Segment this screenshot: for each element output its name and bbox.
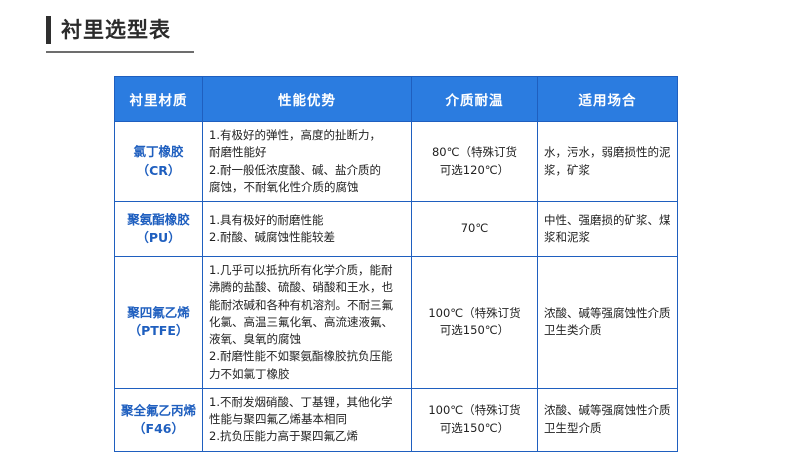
temperature-line: 可选120℃） — [418, 162, 531, 179]
table-row: 氯丁橡胶 （CR） 1.有极好的弹性，高度的扯断力， 耐磨性能好 2.耐一般低浓… — [115, 122, 678, 202]
material-name: 聚四氟乙烯 — [121, 304, 196, 322]
temperature-line: 100℃（特殊订货 — [418, 305, 531, 322]
cell-scene: 浓酸、碱等强腐蚀性介质 卫生型介质 — [538, 388, 678, 451]
cell-temperature: 100℃（特殊订货 可选150℃） — [412, 257, 538, 389]
table-row: 聚四氟乙烯 （PTFE） 1.几乎可以抵抗所有化学介质，能耐 沸腾的盐酸、硫酸、… — [115, 257, 678, 389]
performance-line: 能耐浓碱和各种有机溶剂。不耐三氟 — [209, 297, 405, 314]
material-name: 聚氨酯橡胶 — [121, 211, 196, 229]
performance-line: 力不如氯丁橡胶 — [209, 366, 405, 383]
column-header-performance: 性能优势 — [203, 77, 412, 122]
scene-line: 浓酸、碱等强腐蚀性介质 — [544, 402, 671, 419]
scene-line: 卫生型介质 — [544, 420, 671, 437]
page-root: 衬里选型表 衬里材质 性能优势 介质耐温 适用场合 氯丁橡胶 （CR） — [0, 0, 790, 423]
lining-selection-table: 衬里材质 性能优势 介质耐温 适用场合 氯丁橡胶 （CR） 1.有极好的弹性，高… — [114, 76, 678, 452]
scene-line: 卫生类介质 — [544, 322, 671, 339]
cell-temperature: 100℃（特殊订货 可选150℃） — [412, 388, 538, 451]
scene-line: 浆和泥浆 — [544, 229, 671, 246]
cell-performance: 1.几乎可以抵抗所有化学介质，能耐 沸腾的盐酸、硫酸、硝酸和王水，也 能耐浓碱和… — [203, 257, 412, 389]
title-accent-bar — [46, 16, 51, 44]
material-code: （F46） — [121, 420, 196, 438]
column-header-material: 衬里材质 — [115, 77, 203, 122]
cell-material: 氯丁橡胶 （CR） — [115, 122, 203, 202]
cell-material: 聚全氟乙丙烯 （F46） — [115, 388, 203, 451]
cell-material: 聚氨酯橡胶 （PU） — [115, 202, 203, 257]
performance-line: 2.耐一般低浓度酸、碱、盐介质的 — [209, 162, 405, 179]
column-header-temperature: 介质耐温 — [412, 77, 538, 122]
title-underline — [46, 51, 194, 53]
table-row: 聚全氟乙丙烯 （F46） 1.不耐发烟硝酸、丁基锂，其他化学 性能与聚四氟乙烯基… — [115, 388, 678, 451]
table-body: 氯丁橡胶 （CR） 1.有极好的弹性，高度的扯断力， 耐磨性能好 2.耐一般低浓… — [115, 122, 678, 452]
cell-scene: 水，污水，弱磨损性的泥 浆，矿浆 — [538, 122, 678, 202]
performance-line: 1.有极好的弹性，高度的扯断力， — [209, 127, 405, 144]
cell-performance: 1.不耐发烟硝酸、丁基锂，其他化学 性能与聚四氟乙烯基本相同 2.抗负压能力高于… — [203, 388, 412, 451]
lining-table-wrapper: 衬里材质 性能优势 介质耐温 适用场合 氯丁橡胶 （CR） 1.有极好的弹性，高… — [114, 76, 677, 452]
performance-line: 2.抗负压能力高于聚四氟乙烯 — [209, 428, 405, 445]
cell-temperature: 80℃（特殊订货 可选120℃） — [412, 122, 538, 202]
material-code: （CR） — [121, 162, 196, 180]
performance-line: 1.不耐发烟硝酸、丁基锂，其他化学 — [209, 394, 405, 411]
cell-scene: 浓酸、碱等强腐蚀性介质 卫生类介质 — [538, 257, 678, 389]
temperature-line: 70℃ — [418, 220, 531, 237]
material-name: 氯丁橡胶 — [121, 143, 196, 161]
material-code: （PU） — [121, 229, 196, 247]
table-row: 聚氨酯橡胶 （PU） 1.具有极好的耐磨性能 2.耐酸、碱腐蚀性能较差 70℃ … — [115, 202, 678, 257]
performance-line: 2.耐酸、碱腐蚀性能较差 — [209, 229, 405, 246]
cell-temperature: 70℃ — [412, 202, 538, 257]
performance-line: 沸腾的盐酸、硫酸、硝酸和王水，也 — [209, 279, 405, 296]
table-header-row: 衬里材质 性能优势 介质耐温 适用场合 — [115, 77, 678, 122]
cell-material: 聚四氟乙烯 （PTFE） — [115, 257, 203, 389]
scene-line: 浓酸、碱等强腐蚀性介质 — [544, 305, 671, 322]
scene-line: 水，污水，弱磨损性的泥 — [544, 144, 671, 161]
temperature-line: 100℃（特殊订货 — [418, 402, 531, 419]
performance-line: 化氯、高温三氟化氧、高流速液氟、 — [209, 314, 405, 331]
performance-line: 1.几乎可以抵抗所有化学介质，能耐 — [209, 262, 405, 279]
temperature-line: 可选150℃） — [418, 322, 531, 339]
scene-line: 浆，矿浆 — [544, 162, 671, 179]
temperature-line: 可选150℃） — [418, 420, 531, 437]
cell-scene: 中性、强磨损的矿浆、煤 浆和泥浆 — [538, 202, 678, 257]
column-header-scene: 适用场合 — [538, 77, 678, 122]
table-header: 衬里材质 性能优势 介质耐温 适用场合 — [115, 77, 678, 122]
cell-performance: 1.具有极好的耐磨性能 2.耐酸、碱腐蚀性能较差 — [203, 202, 412, 257]
material-name: 聚全氟乙丙烯 — [121, 402, 196, 420]
scene-line: 中性、强磨损的矿浆、煤 — [544, 212, 671, 229]
material-code: （PTFE） — [121, 322, 196, 340]
page-title: 衬里选型表 — [61, 16, 171, 44]
temperature-line: 80℃（特殊订货 — [418, 144, 531, 161]
performance-line: 1.具有极好的耐磨性能 — [209, 212, 405, 229]
cell-performance: 1.有极好的弹性，高度的扯断力， 耐磨性能好 2.耐一般低浓度酸、碱、盐介质的 … — [203, 122, 412, 202]
performance-line: 性能与聚四氟乙烯基本相同 — [209, 411, 405, 428]
performance-line: 液氧、臭氧的腐蚀 — [209, 331, 405, 348]
page-title-group: 衬里选型表 — [46, 16, 171, 44]
performance-line: 腐蚀，不耐氧化性介质的腐蚀 — [209, 179, 405, 196]
performance-line: 2.耐磨性能不如聚氨酯橡胶抗负压能 — [209, 348, 405, 365]
performance-line: 耐磨性能好 — [209, 144, 405, 161]
